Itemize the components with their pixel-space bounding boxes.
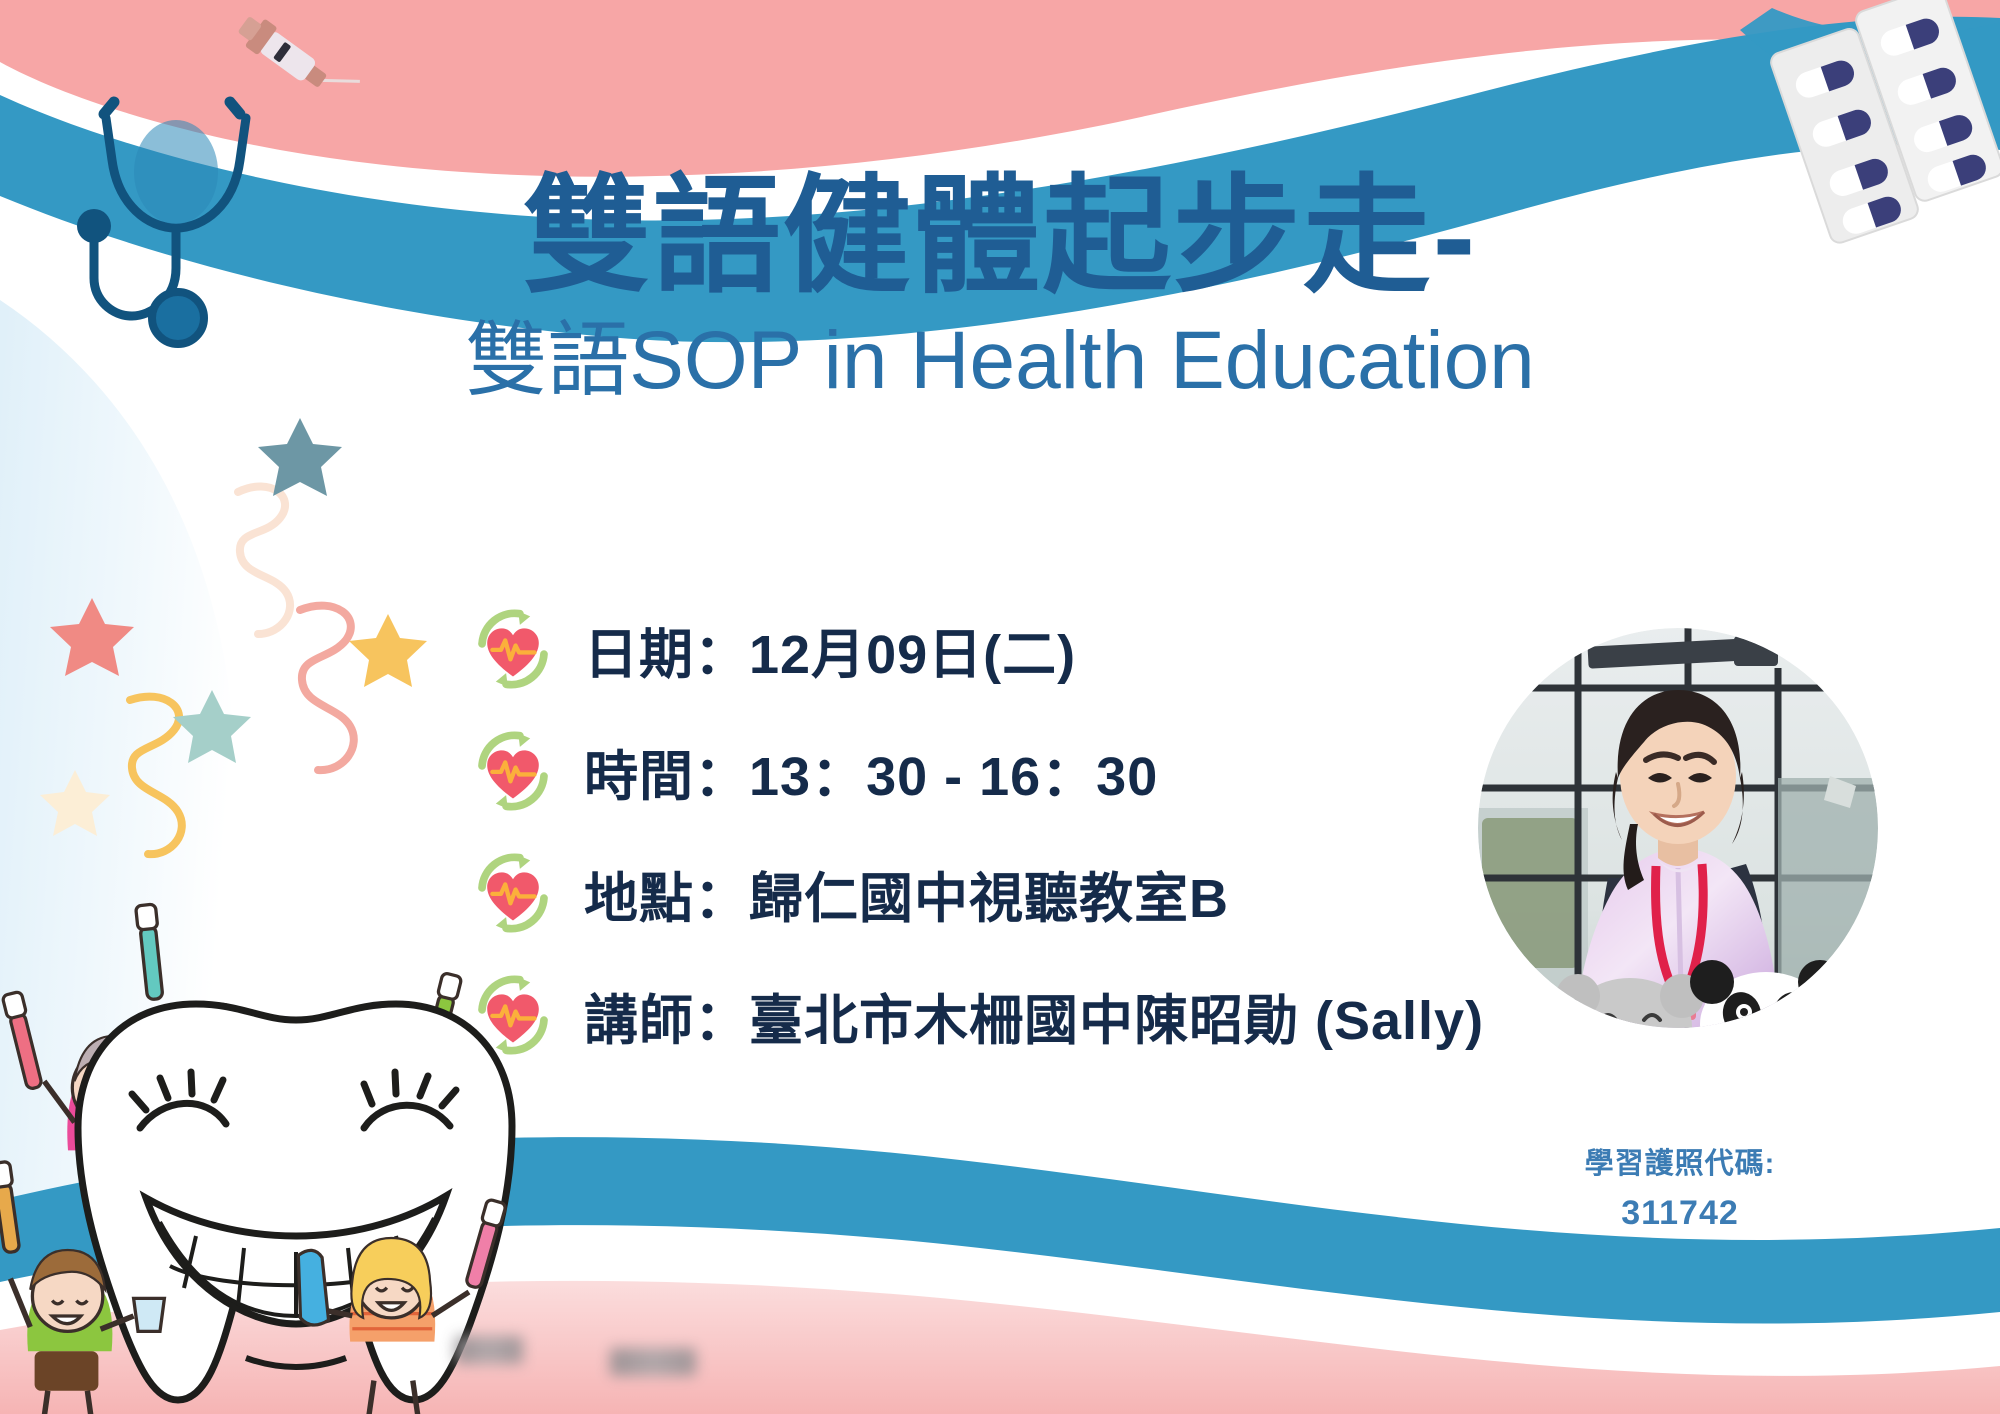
heart-pulse-recycle-icon — [470, 606, 556, 692]
tooth-mascot — [78, 1004, 512, 1400]
passport-label: 學習護照代碼: — [1500, 1140, 1860, 1182]
info-row-speaker: 講師：臺北市木柵國中陳昭勛 (Sally) — [470, 954, 1570, 1076]
info-row-location: 地點：歸仁國中視聽教室B — [470, 832, 1570, 954]
info-row-date: 日期：12月09日(二) — [470, 588, 1570, 710]
poster-canvas: 雙語健體起步走- 雙語SOP in Health Education 日期：12… — [0, 0, 2000, 1414]
event-info-list: 日期：12月09日(二) 時間：13：30 - 16：30 — [470, 588, 1570, 1076]
heart-pulse-recycle-icon — [470, 850, 556, 936]
info-row-text: 時間：13：30 - 16：30 — [584, 732, 1158, 811]
learning-passport-code: 學習護照代碼: 311742 — [1500, 1140, 1860, 1233]
heart-pulse-recycle-icon — [470, 728, 556, 814]
info-row-time: 時間：13：30 - 16：30 — [470, 710, 1570, 832]
passport-code-value: 311742 — [1500, 1194, 1860, 1233]
info-row-text: 地點：歸仁國中視聽教室B — [584, 854, 1229, 933]
info-row-text: 講師：臺北市木柵國中陳昭勛 (Sally) — [584, 976, 1484, 1055]
redacted-text-block — [455, 1336, 523, 1364]
heart-pulse-recycle-icon — [470, 972, 556, 1058]
redacted-text-block — [610, 1348, 696, 1376]
info-row-text: 日期：12月09日(二) — [584, 610, 1076, 689]
